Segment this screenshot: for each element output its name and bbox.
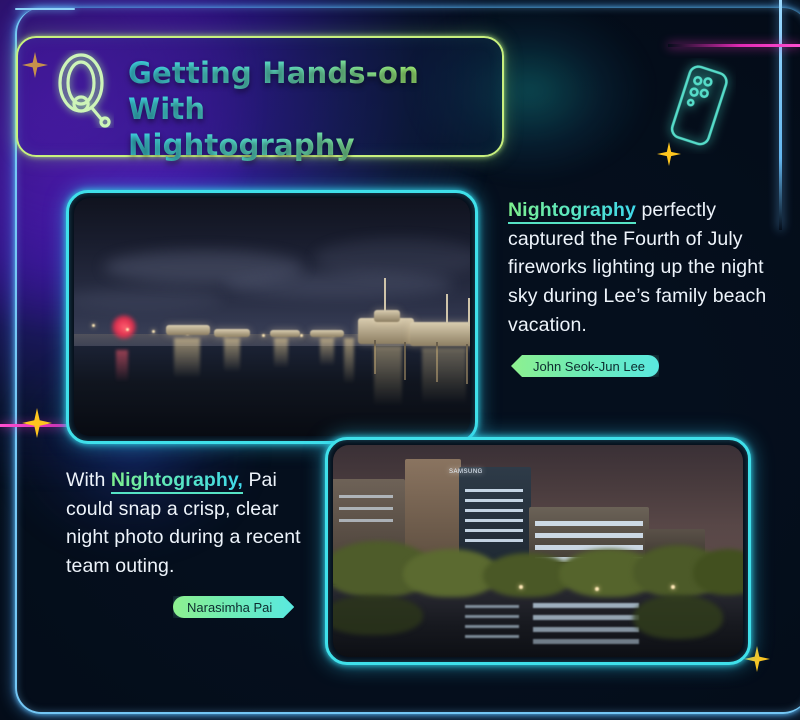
reflection bbox=[465, 605, 519, 608]
question-mark-q-icon bbox=[52, 50, 114, 128]
mast bbox=[384, 278, 386, 312]
window-row bbox=[465, 499, 523, 502]
reflection bbox=[374, 346, 402, 406]
firework bbox=[110, 314, 138, 340]
quote-text-before: With bbox=[66, 469, 111, 491]
mast bbox=[468, 298, 470, 326]
window-row bbox=[465, 509, 523, 512]
light bbox=[152, 330, 155, 333]
author-name: Narasimha Pai bbox=[187, 600, 272, 615]
light bbox=[262, 334, 265, 337]
firework-reflection bbox=[116, 350, 128, 382]
night-campus-reflection-photo: SAMSUNG bbox=[325, 437, 751, 665]
window-row bbox=[465, 519, 523, 522]
window-row bbox=[339, 519, 393, 522]
window-row bbox=[339, 495, 393, 498]
water bbox=[74, 346, 470, 436]
keyword-nightography: Nightography, bbox=[111, 469, 243, 494]
photo-content bbox=[74, 198, 470, 436]
light bbox=[126, 328, 129, 331]
reflection bbox=[465, 615, 519, 618]
boat bbox=[310, 330, 344, 337]
page-title-line-2: Nightography bbox=[128, 128, 488, 164]
reflection bbox=[174, 338, 200, 378]
window-row bbox=[465, 529, 523, 532]
reflection bbox=[533, 627, 639, 632]
tree-reflection bbox=[633, 595, 723, 639]
boat bbox=[270, 330, 300, 337]
reflection bbox=[224, 338, 240, 372]
window-row bbox=[339, 507, 393, 510]
reflection bbox=[320, 338, 334, 366]
author-name: John Seok-Jun Lee bbox=[533, 359, 645, 374]
page-title: Getting Hands-on With Nightography bbox=[128, 56, 488, 164]
magenta-accent-line-top bbox=[668, 44, 800, 47]
page-title-line-1: Getting Hands-on With bbox=[128, 56, 488, 128]
dock-post bbox=[404, 342, 406, 380]
reflection bbox=[465, 635, 519, 638]
samsung-logo-icon: SAMSUNG bbox=[449, 469, 483, 475]
window-row bbox=[535, 521, 643, 526]
light bbox=[300, 334, 303, 337]
neon-frame-top-segment bbox=[15, 8, 75, 10]
reflection bbox=[422, 348, 466, 404]
sparkle-icon bbox=[22, 408, 52, 438]
boat bbox=[214, 329, 250, 337]
light bbox=[595, 587, 599, 591]
window-row bbox=[535, 545, 643, 550]
boat-cabin bbox=[374, 310, 400, 322]
author-badge-john-seok-jun-lee: John Seok-Jun Lee bbox=[511, 355, 659, 377]
reflection bbox=[533, 615, 639, 620]
dock-post bbox=[466, 344, 468, 384]
tree-reflection bbox=[333, 595, 423, 635]
light bbox=[519, 585, 523, 589]
light bbox=[92, 324, 95, 327]
smartphone-camera-icon bbox=[660, 58, 736, 154]
window-row bbox=[535, 533, 643, 538]
cloud bbox=[314, 238, 470, 278]
keyword-nightography: Nightography bbox=[508, 199, 636, 224]
infographic-canvas: Getting Hands-on With Nightography bbox=[0, 0, 800, 720]
reflection bbox=[533, 639, 639, 644]
quote-team-outing: With Nightography, Pai could snap a cris… bbox=[66, 466, 316, 581]
boat bbox=[166, 325, 210, 335]
author-badge-narasimha-pai: Narasimha Pai bbox=[173, 596, 294, 618]
boat-large bbox=[410, 322, 470, 346]
window-row bbox=[465, 489, 523, 492]
photo-content: SAMSUNG bbox=[333, 445, 743, 657]
reflection bbox=[274, 338, 288, 368]
night-harbor-fireworks-photo bbox=[66, 190, 478, 444]
reflection bbox=[465, 625, 519, 628]
window-row bbox=[465, 539, 523, 542]
reflection bbox=[344, 338, 354, 384]
light bbox=[671, 585, 675, 589]
mast bbox=[446, 294, 448, 324]
quote-fireworks: Nightography perfectly captured the Four… bbox=[508, 196, 780, 339]
reflection bbox=[533, 603, 639, 608]
